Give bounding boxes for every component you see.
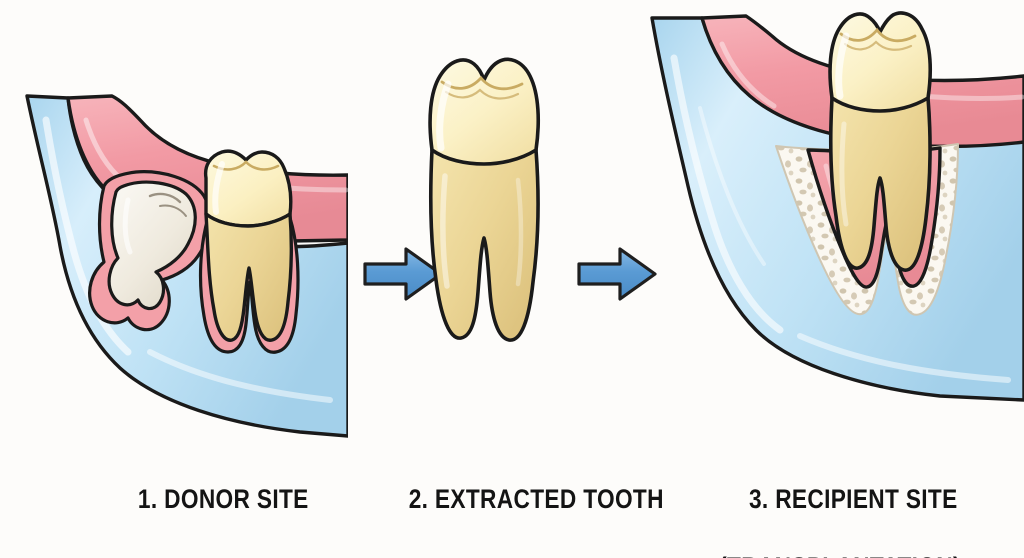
panel-extracted-tooth: [348, 0, 658, 440]
panel-donor-site: [0, 0, 348, 440]
panel-recipient-site: [640, 0, 1024, 440]
caption-recipient-line-1: 3. RECIPIENT SITE: [749, 484, 958, 514]
caption-recipient-site: 3. RECIPIENT SITE (TRANSPLANTATION): [689, 448, 991, 558]
caption-donor-site: 1. DONOR SITE: [59, 448, 361, 550]
caption-recipient-line-2: (TRANSPLANTATION): [689, 550, 991, 558]
caption-donor-line-1: 1. DONOR SITE: [138, 484, 309, 514]
dental-transplantation-diagram: 1. DONOR SITE 2. EXTRACTED TOOTH 3. RECI…: [0, 0, 1024, 558]
caption-extracted-tooth: 2. EXTRACTED TOOTH: [376, 448, 670, 550]
extracted-molar-tooth: [430, 59, 538, 340]
caption-extracted-line-1: 2. EXTRACTED TOOTH: [409, 484, 664, 514]
